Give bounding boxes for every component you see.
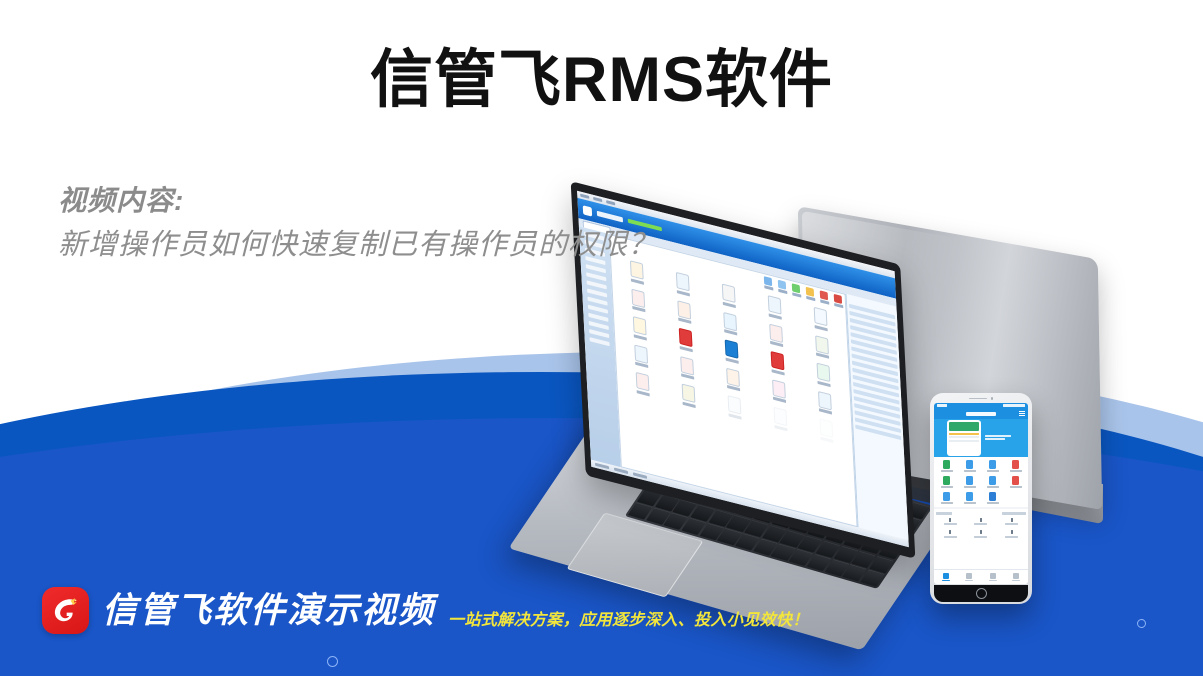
phone-screen	[934, 403, 1028, 584]
sidebar-item[interactable]	[589, 321, 609, 330]
slide-canvas: 信管飞RMS软件 视频内容: 新增操作员如何快速复制已有操作员的权限？	[0, 0, 1203, 676]
phone-earpiece	[930, 396, 1032, 401]
phone-feature-icon-empty	[1005, 492, 1026, 504]
sidebar-item[interactable]	[587, 288, 607, 297]
toolbar-button[interactable]	[819, 290, 830, 306]
decor-dot	[1137, 619, 1146, 628]
app-grid-icon[interactable]	[714, 392, 755, 423]
phone-stats-header	[936, 512, 1026, 515]
phone-stat-item	[936, 518, 965, 526]
app-grid-icon[interactable]	[710, 308, 751, 339]
phone-feature-icon[interactable]	[959, 476, 980, 488]
phone-nav-list[interactable]	[958, 573, 982, 582]
sidebar-item[interactable]	[590, 337, 610, 346]
phone-chin	[934, 585, 1028, 602]
app-grid-icon[interactable]	[620, 313, 661, 344]
phone-promo-card-icon	[947, 420, 981, 456]
app-grid-icon[interactable]	[756, 320, 797, 351]
app-grid-icon[interactable]	[801, 331, 842, 362]
phone-stat-item	[997, 518, 1026, 526]
app-grid-icon[interactable]	[754, 292, 795, 323]
phone-promo-text	[985, 435, 1015, 442]
phone-bottom-nav[interactable]	[934, 569, 1028, 584]
app-grid-icon[interactable]	[711, 336, 752, 367]
brand-bird-logo-icon	[42, 587, 89, 634]
app-grid-icon[interactable]	[804, 387, 845, 418]
toolbar-button[interactable]	[763, 276, 774, 292]
phone-feature-icon[interactable]	[982, 492, 1003, 504]
app-grid-icon[interactable]	[623, 369, 664, 400]
sidebar-item[interactable]	[587, 297, 607, 306]
app-grid-icon[interactable]	[803, 359, 844, 390]
app-icon-grid[interactable]	[617, 257, 847, 446]
brand-tagline-text: 一站式解决方案，应用逐步深入、投入小见效快！	[448, 606, 809, 634]
bottom-brand-banner: 信管飞软件演示视频 一站式解决方案，应用逐步深入、投入小见效快！	[42, 587, 809, 634]
app-grid-icon[interactable]	[668, 380, 709, 411]
sidebar-item[interactable]	[588, 305, 608, 314]
app-grid-icon[interactable]	[806, 415, 847, 446]
phone-feature-icon[interactable]	[959, 492, 980, 504]
phone-nav-home[interactable]	[934, 573, 958, 582]
phone-stat-item	[967, 530, 996, 538]
toolbar-button[interactable]	[833, 294, 844, 310]
phone-feature-icon[interactable]	[1005, 460, 1026, 472]
app-grid-icon[interactable]	[800, 303, 841, 334]
phone-nav-chart[interactable]	[981, 573, 1005, 582]
sidebar-item[interactable]	[587, 280, 607, 289]
phone-app-title	[966, 412, 996, 416]
video-content-text: 新增操作员如何快速复制已有操作员的权限？	[58, 224, 658, 266]
app-grid-icon[interactable]	[618, 285, 659, 316]
phone-feature-icon[interactable]	[959, 460, 980, 472]
phone-stat-item	[997, 530, 1026, 538]
phone-feature-icon[interactable]	[982, 476, 1003, 488]
sidebar-item[interactable]	[586, 272, 606, 281]
decor-dot	[327, 656, 338, 667]
app-grid-icon[interactable]	[667, 352, 708, 383]
hamburger-menu-icon[interactable]	[1019, 411, 1025, 416]
phone-home-button[interactable]	[976, 588, 987, 599]
app-grid-icon[interactable]	[757, 348, 798, 379]
phone-feature-icon[interactable]	[936, 476, 957, 488]
phone-promo-banner[interactable]	[934, 419, 1028, 457]
brand-name-text: 信管飞软件演示视频	[102, 593, 435, 628]
phone-feature-icon[interactable]	[982, 460, 1003, 472]
app-grid-icon[interactable]	[708, 280, 749, 311]
app-grid-icon[interactable]	[664, 296, 705, 327]
phone-nav-profile[interactable]	[1005, 573, 1029, 582]
app-grid-icon[interactable]	[713, 364, 754, 395]
phone-stat-item	[936, 530, 965, 538]
sidebar-item[interactable]	[589, 329, 609, 338]
phone-stat-item	[967, 518, 996, 526]
phone-stats-section	[934, 509, 1028, 569]
app-grid-icon[interactable]	[663, 269, 704, 300]
smartphone-mockup	[930, 393, 1032, 604]
phone-app-header	[934, 408, 1028, 419]
toolbar-button[interactable]	[805, 287, 816, 303]
phone-feature-grid[interactable]	[934, 457, 1028, 507]
app-grid-icon[interactable]	[758, 375, 799, 406]
toolbar-button[interactable]	[791, 283, 802, 299]
app-grid-icon[interactable]	[760, 403, 801, 434]
phone-stats-grid	[936, 518, 1026, 538]
page-title: 信管飞RMS软件	[0, 44, 1203, 116]
phone-feature-icon[interactable]	[936, 460, 957, 472]
video-content-label: 视频内容:	[58, 182, 658, 220]
toolbar-button[interactable]	[777, 279, 788, 295]
device-mockup-group	[555, 215, 1203, 615]
app-grid-icon[interactable]	[666, 324, 707, 355]
phone-feature-icon[interactable]	[1005, 476, 1026, 488]
video-content-block: 视频内容: 新增操作员如何快速复制已有操作员的权限？	[58, 182, 658, 266]
app-grid-icon[interactable]	[621, 341, 662, 372]
phone-feature-icon[interactable]	[936, 492, 957, 504]
sidebar-item[interactable]	[588, 313, 608, 322]
